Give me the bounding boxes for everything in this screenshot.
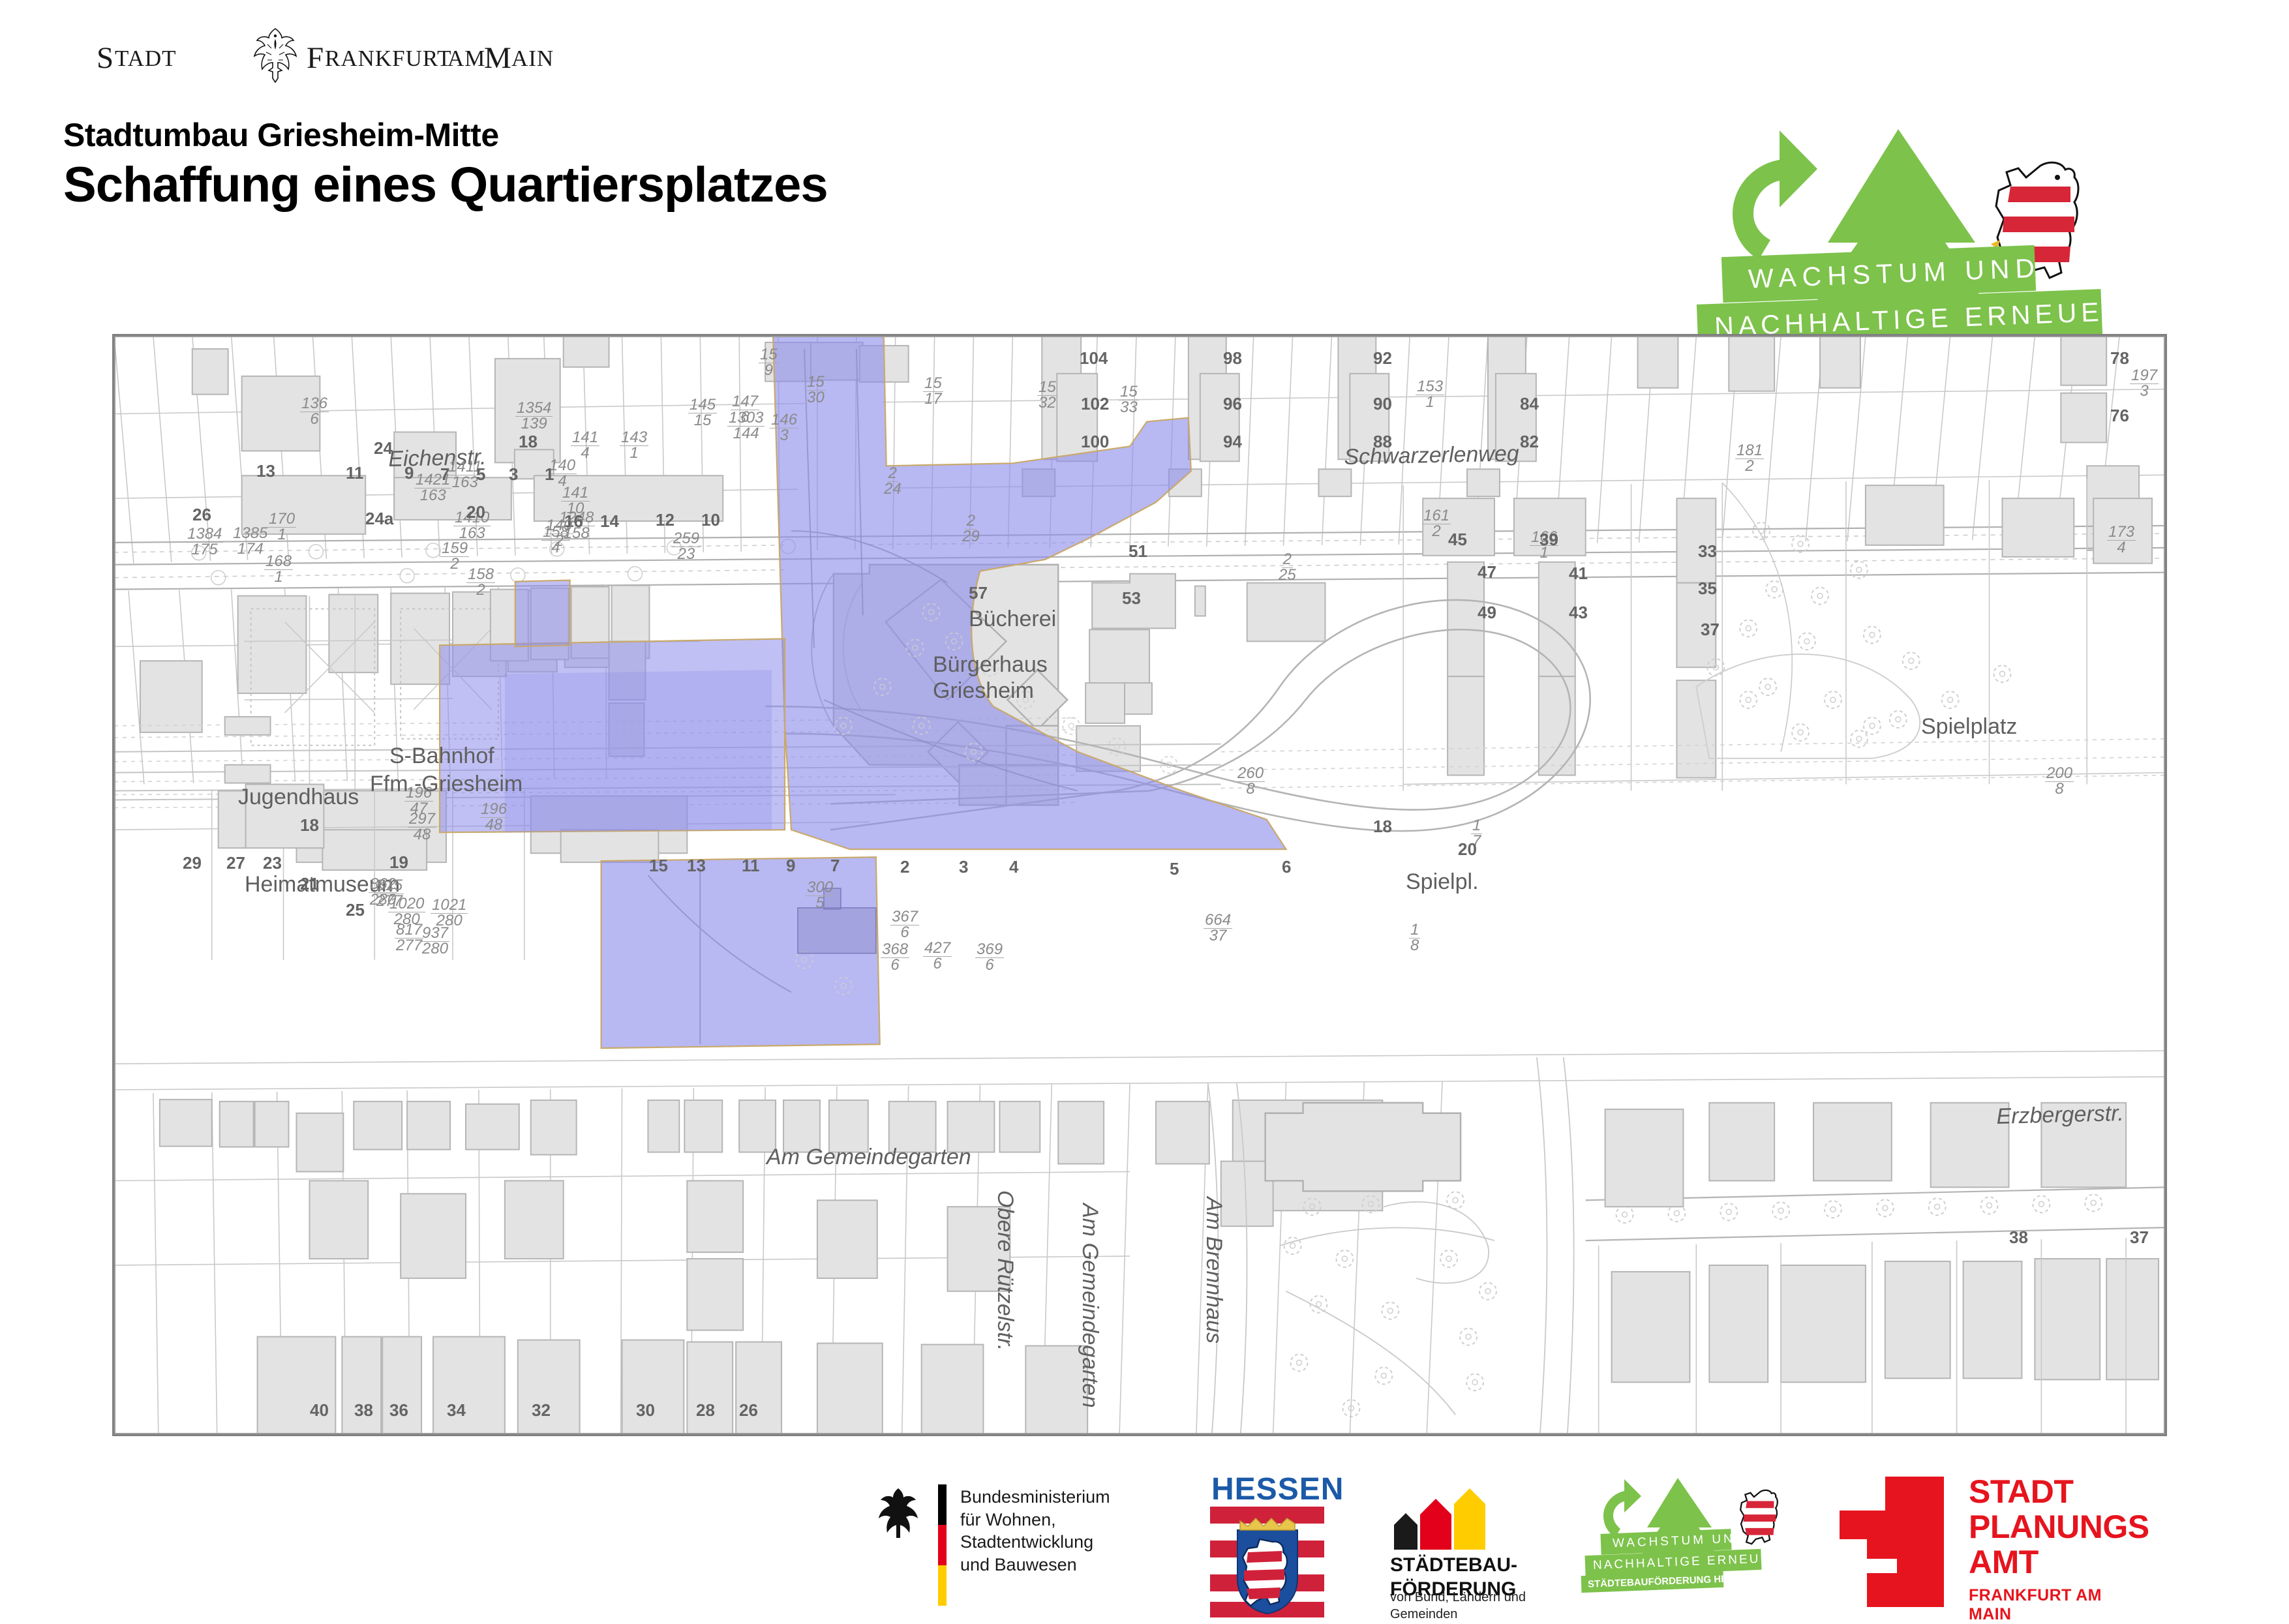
staedtebau-sub1: von Bund, Ländern und	[1390, 1589, 1526, 1606]
hessen-flag	[1210, 1507, 1324, 1611]
bmwsb-line2: für Wohnen, Stadtentwicklung	[960, 1509, 1182, 1554]
staedtebau-sub2: Gemeinden	[1390, 1606, 1526, 1623]
page-header: S TADT F RANKFURT AM M AIN Stadtumbau Gr…	[0, 0, 2289, 307]
staedtebaufoerderung-logo: STÄDTEBAU- FÖRDERUNG von Bund, Ländern u…	[1386, 1467, 1582, 1617]
wachstum-footer-line1: WACHSTUM UND	[1613, 1531, 1747, 1551]
spa-line1: STADT	[1969, 1475, 2073, 1509]
page-title: Schaffung eines Quartiersplatzes	[63, 157, 828, 213]
hessen-wordmark: HESSEN	[1211, 1471, 1344, 1507]
bmwsb-line1: Bundesministerium	[960, 1486, 1182, 1509]
logo-word-m: M	[484, 40, 512, 76]
bundesadler-eagle-icon	[875, 1486, 921, 1541]
staedtebau-line1: STÄDTEBAU-	[1390, 1554, 1517, 1578]
logo-word-rankfurt: RANKFURT	[325, 46, 452, 72]
stadtplanungsamt-logo: STADT PLANUNGS AMT FRANKFURT AM MAIN	[1840, 1467, 2140, 1617]
flag-bar-gold	[938, 1565, 947, 1606]
stadt-frankfurt-logo: S TADT F RANKFURT AM M AIN	[97, 34, 514, 82]
wachstum-footer-line2: NACHHALTIGE ERNEUERUNG	[1593, 1550, 1815, 1573]
flag-bar-black	[938, 1484, 947, 1525]
wachstum-erneuerung-footer-logo: WACHSTUM UND NACHHALTIGE ERNEUERUNG STÄD…	[1579, 1467, 1813, 1617]
logo-word-am: AM	[447, 46, 485, 72]
flag-bar-red	[938, 1525, 947, 1565]
logo-word-ain: AIN	[511, 46, 554, 72]
map-vector-layer	[114, 336, 2165, 1434]
hessen-logo: HESSEN	[1210, 1467, 1327, 1617]
cadastral-map[interactable]: Eichenstr.SchwarzerlenwegAm Gemeindegart…	[112, 334, 2167, 1436]
frankfurt-eagle-crest-icon	[252, 27, 299, 83]
page-footer: Bundesministerium für Wohnen, Stadtentwi…	[0, 1467, 2289, 1617]
wachstum-footer-line3: STÄDTEBAUFÖRDERUNG HESSEN	[1588, 1572, 1754, 1590]
bmwsb-logo: Bundesministerium für Wohnen, Stadtentwi…	[875, 1467, 1182, 1617]
project-subtitle: Stadtumbau Griesheim-Mitte	[63, 116, 499, 154]
bmwsb-line3: und Bauwesen	[960, 1554, 1182, 1576]
spa-line2: PLANUNGS	[1969, 1511, 2149, 1544]
logo-word-f: F	[307, 40, 324, 76]
spa-line3: AMT	[1969, 1546, 2039, 1579]
three-houses-icon	[1390, 1484, 1488, 1550]
hessen-coat-of-arms-icon	[1234, 1516, 1301, 1615]
wachstum-line1: WACHSTUM UND	[1748, 252, 2041, 294]
spa-sub: FRANKFURT AM MAIN	[1969, 1586, 2140, 1624]
logo-word-tadt: TADT	[115, 46, 177, 72]
logo-word-s: S	[97, 40, 114, 76]
stadtplanungsamt-mark-icon	[1840, 1477, 1944, 1607]
